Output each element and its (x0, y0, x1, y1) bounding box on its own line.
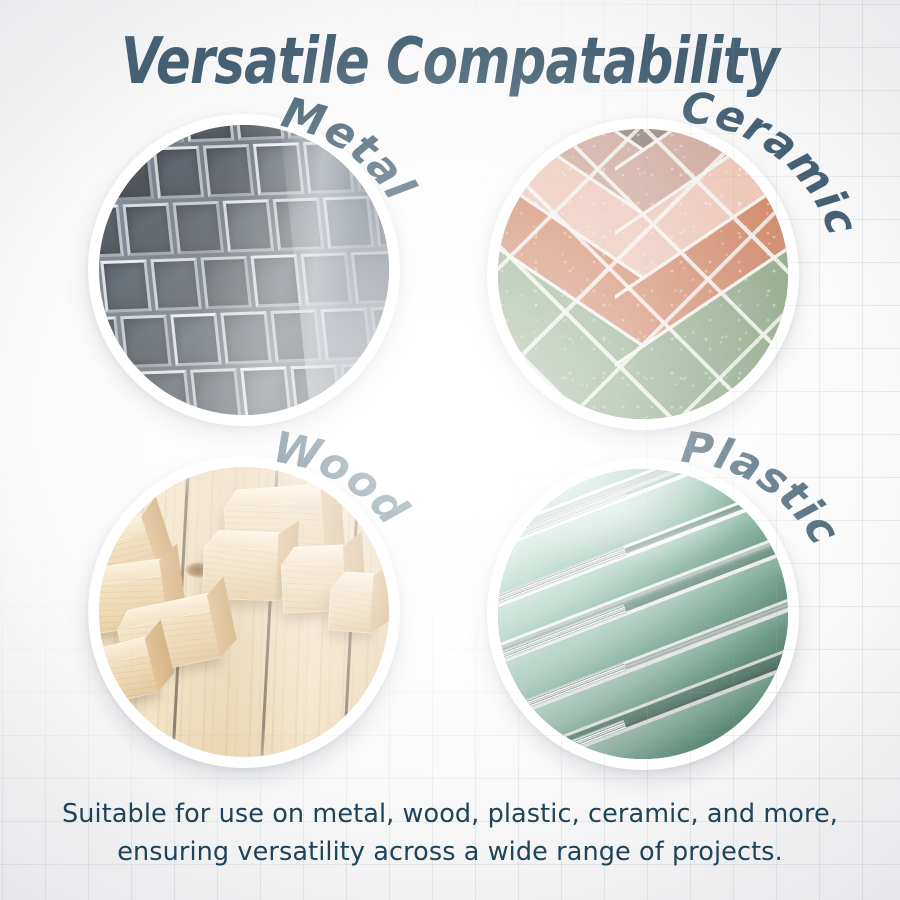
material-photo-wood (99, 467, 389, 757)
product-feature-poster: Versatile Compatability Metal (0, 0, 900, 900)
material-photo-metal (99, 125, 389, 415)
material-card-plastic: Plastic (487, 458, 799, 770)
page-title: Versatile Compatability (90, 30, 810, 94)
caption-line-2: ensuring versatility across a wide range… (0, 833, 900, 871)
material-card-ceramic: Ceramic (487, 118, 799, 430)
material-card-metal: Metal (88, 114, 400, 426)
material-card-wood: Wood (88, 456, 400, 768)
material-photo-plastic (498, 469, 788, 759)
caption: Suitable for use on metal, wood, plastic… (0, 795, 900, 871)
material-photo-ceramic (498, 129, 788, 419)
caption-line-1: Suitable for use on metal, wood, plastic… (0, 795, 900, 833)
